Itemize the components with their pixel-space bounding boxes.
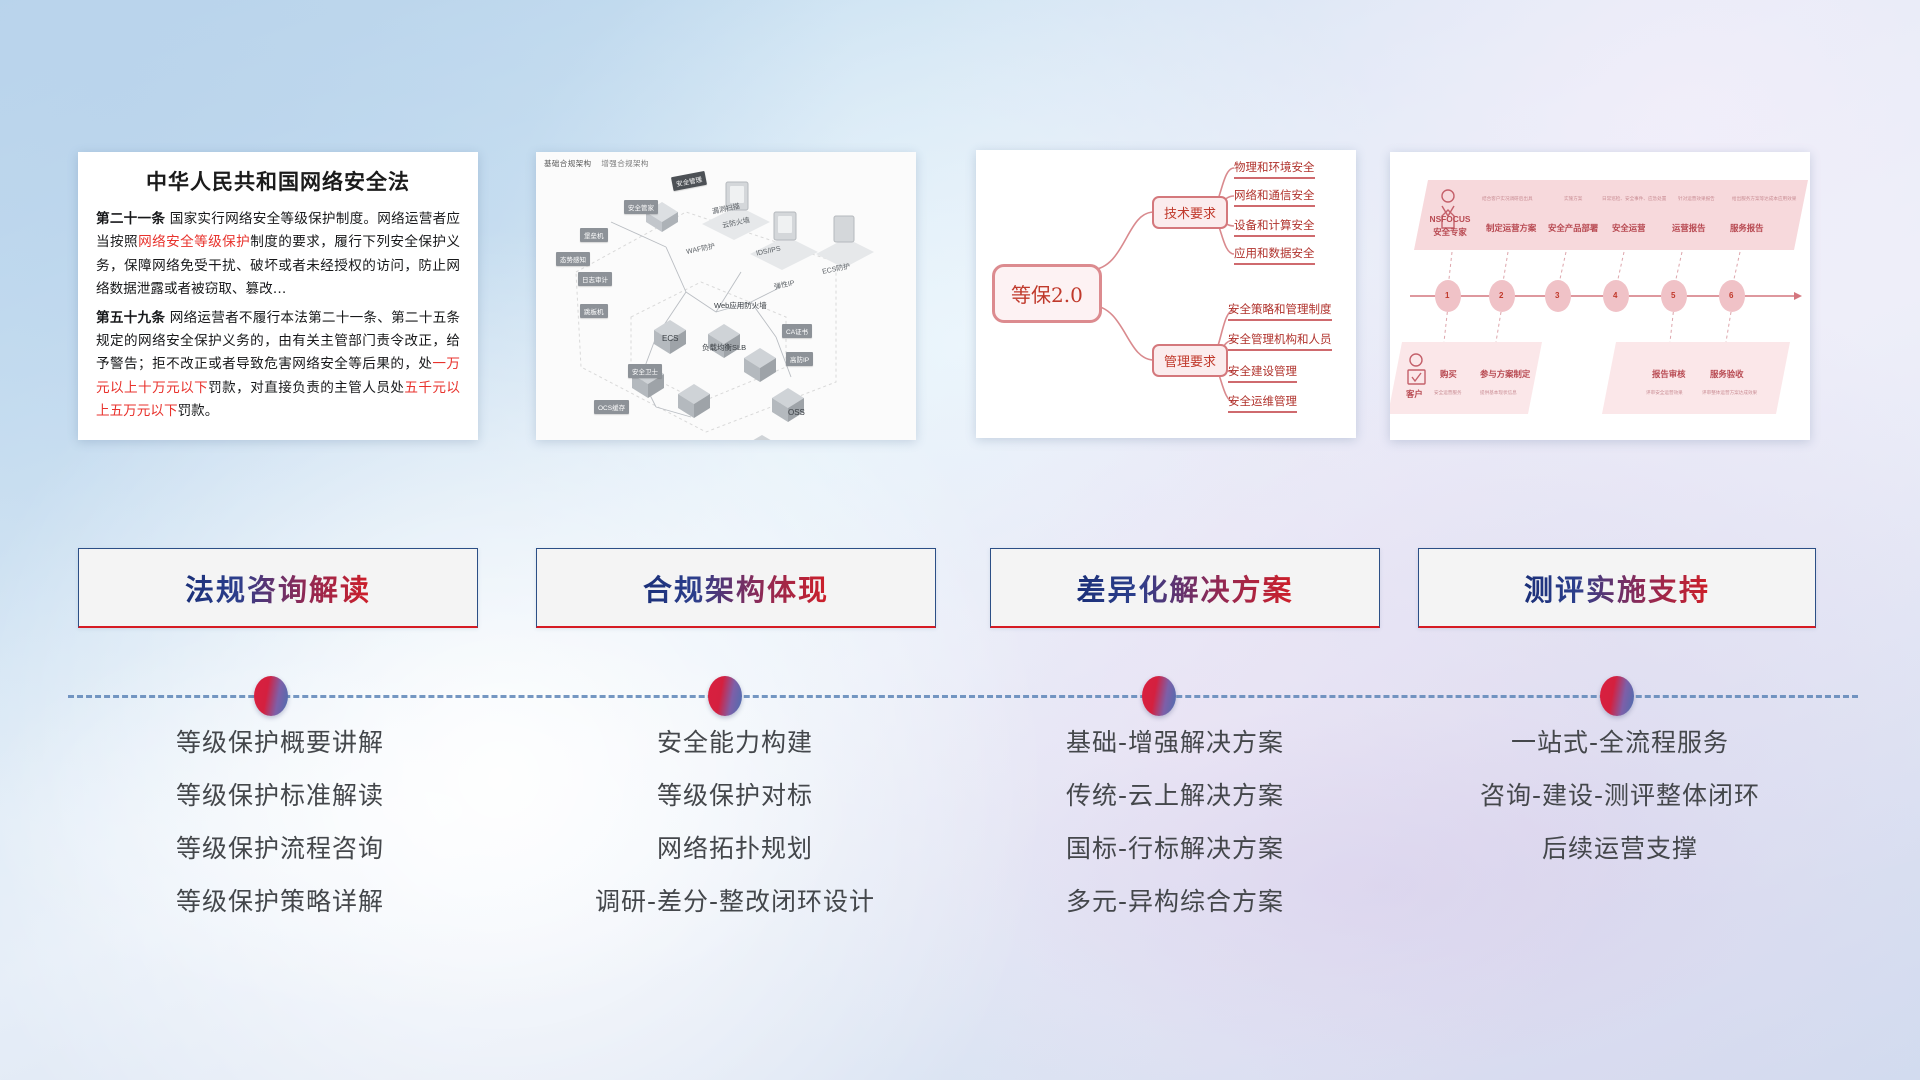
timeline-dot-3[interactable] <box>1142 676 1176 716</box>
section-title-box-1[interactable]: 法规咨询解读 <box>78 548 478 628</box>
list-item: 咨询-建设-测评整体闭环 <box>1400 783 1840 808</box>
list-item: 等级保护概要讲解 <box>60 730 500 755</box>
timeline-dot-1[interactable] <box>254 676 288 716</box>
section-title-label-3: 差异化解决方案 <box>1076 567 1293 609</box>
section-items-list-4: 一站式-全流程服务 咨询-建设-测评整体闭环 后续运营支撑 <box>1400 730 1840 889</box>
list-item: 等级保护标准解读 <box>60 783 500 808</box>
list-item: 调研-差分-整改闭环设计 <box>510 889 960 914</box>
list-item: 安全能力构建 <box>510 730 960 755</box>
timeline-dashed-line <box>68 695 1858 698</box>
list-item: 网络拓扑规划 <box>510 836 960 861</box>
list-item: 等级保护流程咨询 <box>60 836 500 861</box>
list-item: 传统-云上解决方案 <box>960 783 1390 808</box>
list-item: 多元-异构综合方案 <box>960 889 1390 914</box>
timeline-dot-2[interactable] <box>708 676 742 716</box>
list-item: 一站式-全流程服务 <box>1400 730 1840 755</box>
list-item: 等级保护策略详解 <box>60 889 500 914</box>
list-item: 等级保护对标 <box>510 783 960 808</box>
section-title-box-3[interactable]: 差异化解决方案 <box>990 548 1380 628</box>
section-title-box-2[interactable]: 合规架构体现 <box>536 548 936 628</box>
infographic-root: 中华人民共和国网络安全法 第二十一条 国家实行网络安全等级保护制度。网络运营者应… <box>0 0 1920 1080</box>
section-title-label-4: 测评实施支持 <box>1524 567 1710 609</box>
section-title-label-1: 法规咨询解读 <box>185 567 371 609</box>
list-item: 后续运营支撑 <box>1400 836 1840 861</box>
list-item: 国标-行标解决方案 <box>960 836 1390 861</box>
timeline-dot-4[interactable] <box>1600 676 1634 716</box>
section-title-label-2: 合规架构体现 <box>643 567 829 609</box>
section-items-list-1: 等级保护概要讲解 等级保护标准解读 等级保护流程咨询 等级保护策略详解 <box>60 730 500 942</box>
section-items-list-3: 基础-增强解决方案 传统-云上解决方案 国标-行标解决方案 多元-异构综合方案 <box>960 730 1390 942</box>
section-title-box-4[interactable]: 测评实施支持 <box>1418 548 1816 628</box>
list-item: 基础-增强解决方案 <box>960 730 1390 755</box>
section-items-list-2: 安全能力构建 等级保护对标 网络拓扑规划 调研-差分-整改闭环设计 <box>510 730 960 942</box>
